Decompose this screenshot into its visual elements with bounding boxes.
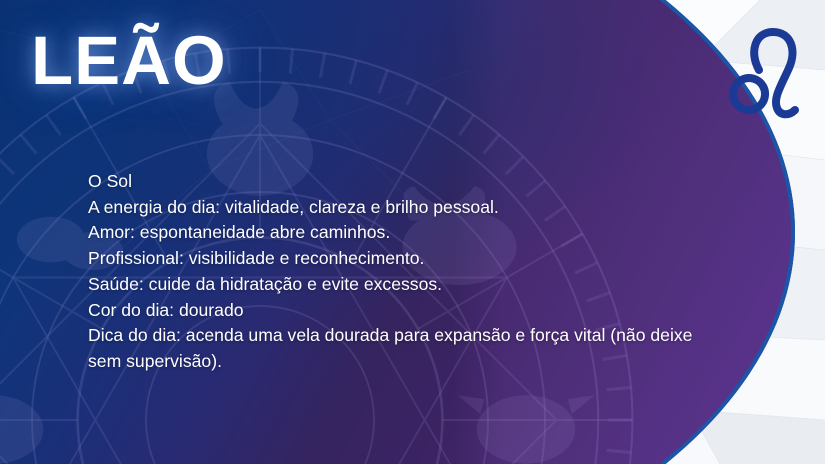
horoscope-text: O Sol A energia do dia: vitalidade, clar… — [88, 169, 728, 375]
horoscope-card: LEÃO O Sol A energia do dia: vitalidade,… — [0, 0, 825, 464]
horoscope-line: Saúde: cuide da hidratação e evite exces… — [88, 272, 728, 298]
leo-glyph-icon — [715, 20, 811, 128]
horoscope-line: O Sol — [88, 169, 728, 195]
horoscope-line: Cor do dia: dourado — [88, 298, 728, 324]
page-title: LEÃO — [31, 26, 227, 95]
horoscope-line: Amor: espontaneidade abre caminhos. — [88, 220, 728, 246]
horoscope-line: A energia do dia: vitalidade, clareza e … — [88, 195, 728, 221]
horoscope-line: Profissional: visibilidade e reconhecime… — [88, 246, 728, 272]
horoscope-line: Dica do dia: acenda uma vela dourada par… — [88, 323, 728, 374]
